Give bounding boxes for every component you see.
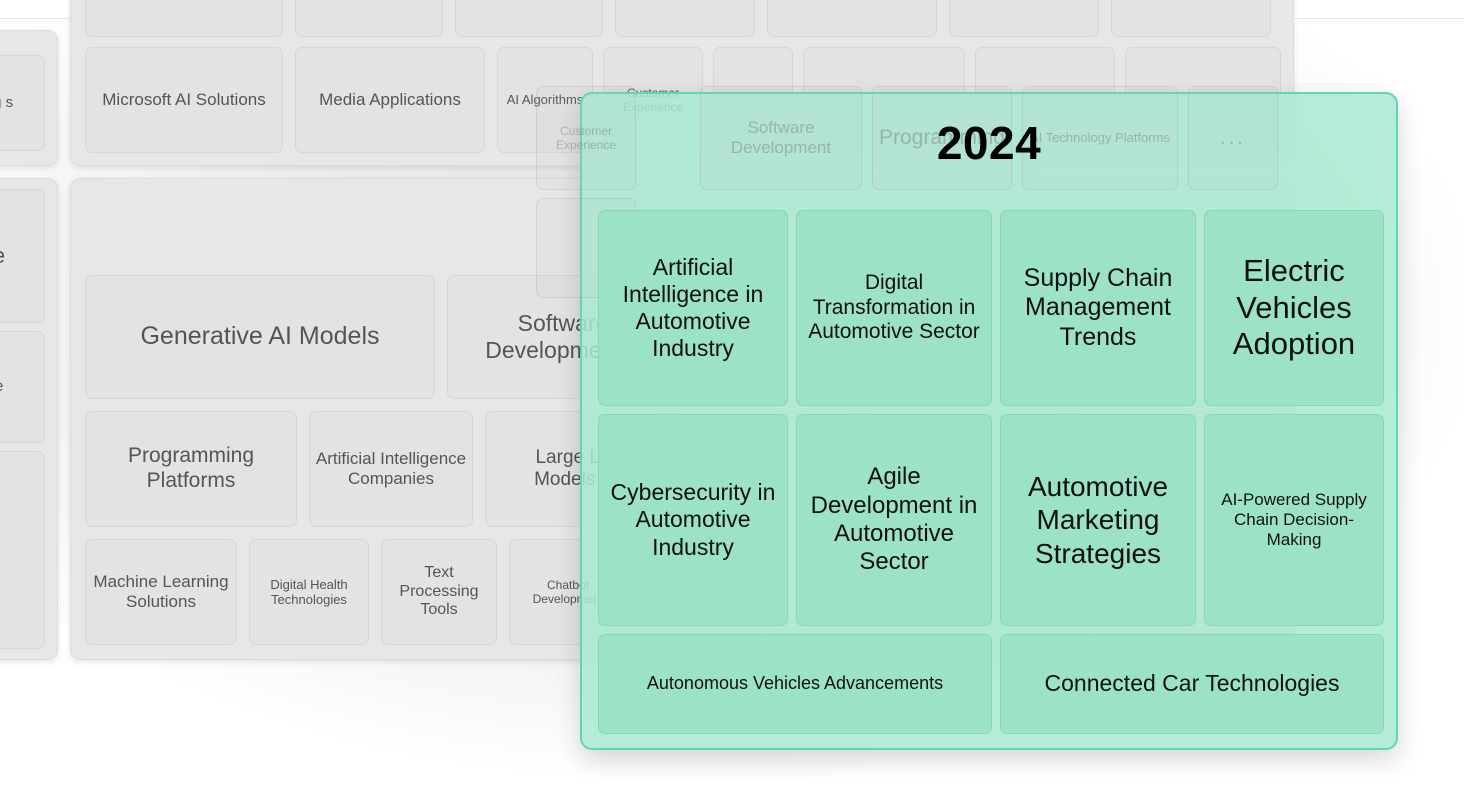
tile-digital-transformation-in-automotive-sector[interactable]: Digital Transformation in Automotive Sec… xyxy=(796,210,992,406)
tile-generative-ai-models[interactable]: Generative AI Models xyxy=(85,275,435,399)
panel-year-2024[interactable]: Customer Experience Software Development… xyxy=(580,92,1398,750)
tile[interactable]: ng s xyxy=(0,55,45,151)
tile-automotive-marketing-strategies[interactable]: Automotive Marketing Strategies xyxy=(1000,414,1196,626)
panel-left-clipped-top[interactable]: ng s xyxy=(0,30,58,166)
panel-title-2024: 2024 xyxy=(582,116,1396,170)
tile-artificial-intelligence-companies[interactable]: Artificial Intelligence Companies xyxy=(309,411,473,527)
tile-text-processing-tools[interactable]: Text Processing Tools xyxy=(381,539,497,645)
tile[interactable]: e xyxy=(0,189,45,323)
panel-left-clipped-bottom[interactable]: e e . xyxy=(0,178,58,660)
tile[interactable]: . xyxy=(0,451,45,649)
tile-autonomous-vehicles-advancements[interactable]: Autonomous Vehicles Advancements xyxy=(598,634,992,734)
tile[interactable] xyxy=(295,0,443,37)
tile[interactable] xyxy=(615,0,755,37)
tile-agile-development-in-automotive-sector[interactable]: Agile Development in Automotive Sector xyxy=(796,414,992,626)
tile[interactable] xyxy=(949,0,1099,37)
tile-media-applications[interactable]: Media Applications xyxy=(295,47,485,153)
tile-supply-chain-management-trends[interactable]: Supply Chain Management Trends xyxy=(1000,210,1196,406)
tile[interactable] xyxy=(85,0,283,37)
tile-cybersecurity-in-automotive-industry[interactable]: Cybersecurity in Automotive Industry xyxy=(598,414,788,626)
tile[interactable] xyxy=(455,0,603,37)
tile-connected-car-technologies[interactable]: Connected Car Technologies xyxy=(1000,634,1384,734)
tile-programming-platforms[interactable]: Programming Platforms xyxy=(85,411,297,527)
tile-artificial-intelligence-in-automotive-industry[interactable]: Artificial Intelligence in Automotive In… xyxy=(598,210,788,406)
tile-microsoft-ai-solutions[interactable]: Microsoft AI Solutions xyxy=(85,47,283,153)
tile-digital-health-technologies[interactable]: Digital Health Technologies xyxy=(249,539,369,645)
tile-ai-algorithms[interactable]: AI Algorithms xyxy=(497,47,593,153)
tile[interactable] xyxy=(1111,0,1271,37)
tile[interactable] xyxy=(767,0,937,37)
tile-ai-powered-supply-chain-decision-making[interactable]: AI-Powered Supply Chain Decision-Making xyxy=(1204,414,1384,626)
tile-machine-learning-solutions[interactable]: Machine Learning Solutions xyxy=(85,539,237,645)
tile-electric-vehicles-adoption[interactable]: Electric Vehicles Adoption xyxy=(1204,210,1384,406)
tile[interactable]: e xyxy=(0,331,45,443)
